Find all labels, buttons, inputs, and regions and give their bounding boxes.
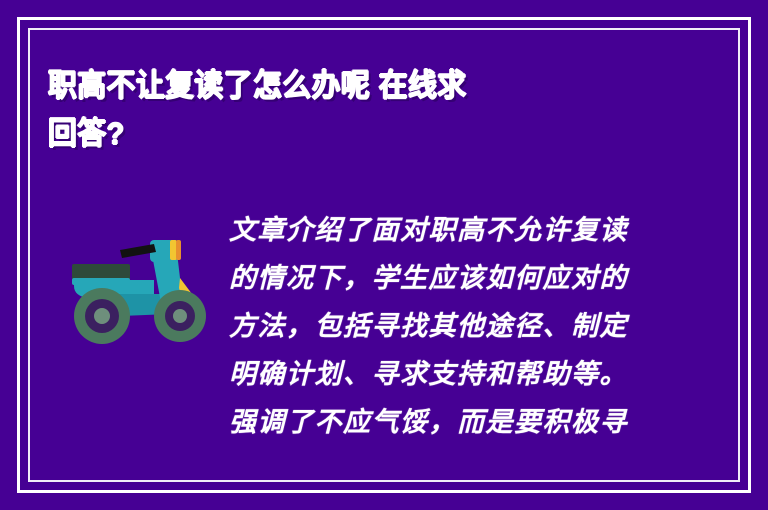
article-summary: 文章介绍了面对职高不允许复读 的情况下，学生应该如何应对的 方法，包括寻找其他途…	[229, 206, 661, 446]
title-line-1: 职高不让复读了怎么办呢 在线求	[48, 62, 606, 110]
summary-line: 明确计划、寻求支持和帮助等。	[229, 350, 661, 398]
summary-line: 强调了不应气馁，而是要积极寻	[229, 398, 661, 446]
summary-line: 文章介绍了面对职高不允许复读	[229, 206, 661, 254]
article-cover-card: 职高不让复读了怎么办呢 在线求 回答?	[0, 0, 768, 510]
page-title: 职高不让复读了怎么办呢 在线求 回答?	[48, 62, 648, 158]
summary-line: 的情况下，学生应该如何应对的	[229, 254, 661, 302]
motor-scooter-icon	[58, 218, 208, 348]
title-line-2: 回答?	[48, 110, 606, 158]
summary-line: 方法，包括寻找其他途径、制定	[229, 302, 661, 350]
